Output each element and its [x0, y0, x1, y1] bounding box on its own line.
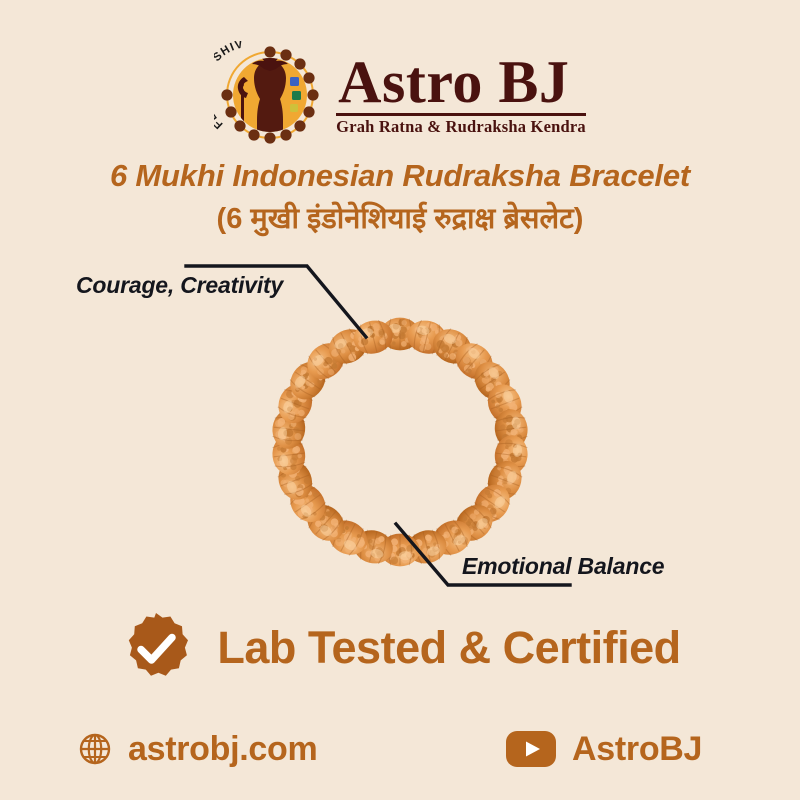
- youtube-icon: [506, 731, 556, 767]
- brand-wordmark: Astro BJ Grah Ratna & Rudraksha Kendra: [336, 53, 586, 137]
- verified-badge-icon: [119, 611, 193, 685]
- footer-bar: astrobj.com AstroBJ: [0, 714, 800, 784]
- callout-courage-creativity: Courage, Creativity: [76, 272, 283, 299]
- product-title-english: 6 Mukhi Indonesian Rudraksha Bracelet: [0, 158, 800, 194]
- globe-icon: [78, 732, 112, 766]
- shiva-figure: [238, 52, 288, 136]
- poster-canvas: FEEL THE SHIV Astro BJ Grah Ratna & Rudr…: [0, 0, 800, 800]
- shiva-face-emblem-icon: FEEL THE SHIV: [214, 41, 322, 147]
- certification-label: Lab Tested & Certified: [217, 622, 680, 674]
- footer-youtube[interactable]: AstroBJ: [506, 730, 702, 769]
- youtube-label: AstroBJ: [572, 730, 702, 769]
- brand-header: FEEL THE SHIV Astro BJ Grah Ratna & Rudr…: [0, 40, 800, 148]
- website-label: astrobj.com: [128, 730, 317, 769]
- brand-tagline: Grah Ratna & Rudraksha Kendra: [336, 117, 586, 137]
- certification-bar: Lab Tested & Certified: [0, 602, 800, 694]
- footer-website[interactable]: astrobj.com: [78, 730, 317, 769]
- brand-name: Astro BJ: [336, 53, 571, 112]
- wordmark-divider: [336, 113, 586, 116]
- product-title-hindi: (6 मुखी इंडोनेशियाई रुद्राक्ष ब्रेसलेट): [0, 198, 800, 237]
- callout-emotional-balance: Emotional Balance: [462, 553, 664, 580]
